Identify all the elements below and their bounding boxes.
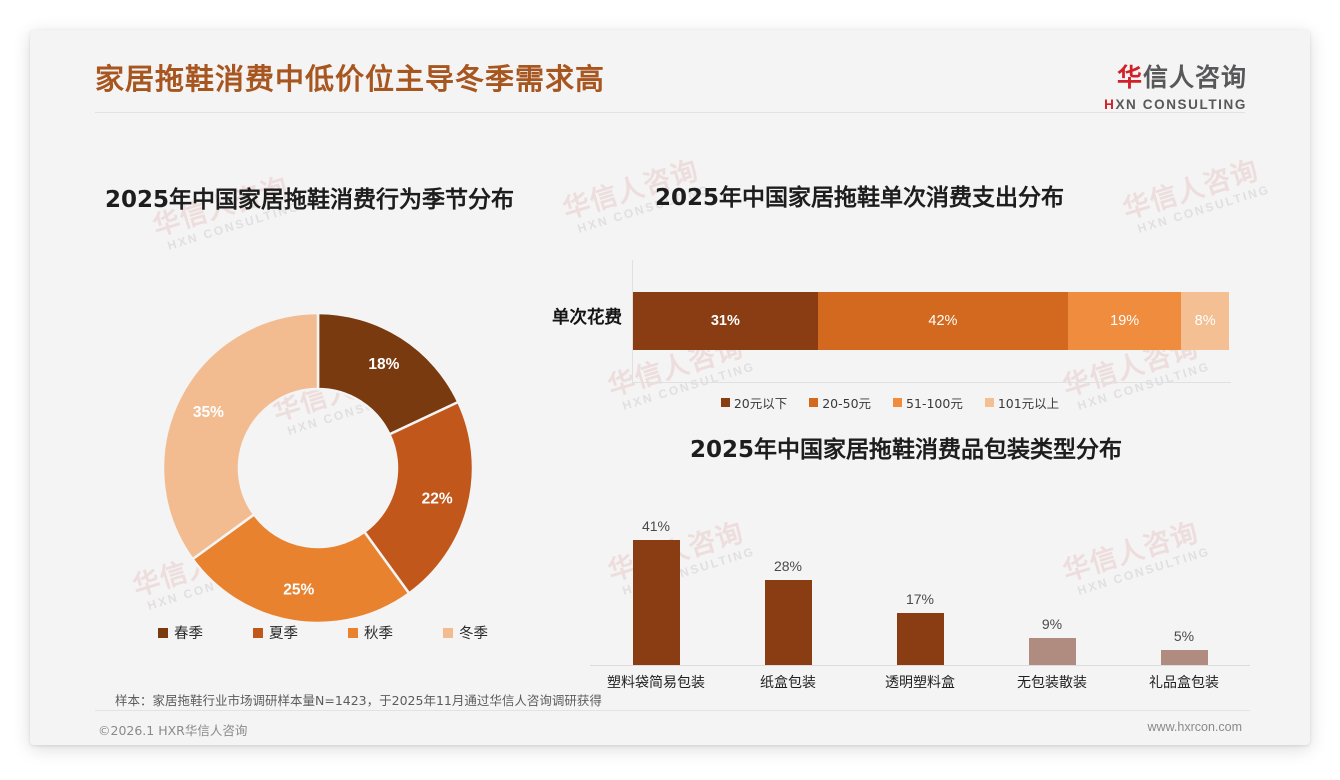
spend-segment-label: 8%	[1195, 313, 1216, 329]
spend-stacked-bar: 31%42%19%8%	[633, 292, 1229, 350]
legend-label: 51-100元	[906, 393, 963, 412]
packaging-category-label: 无包装散装	[986, 672, 1118, 692]
donut-legend: 春季 夏季 秋季 冬季	[158, 622, 488, 643]
packaging-value-label: 28%	[722, 558, 854, 574]
spend-segment-label: 19%	[1110, 313, 1139, 329]
spend-segment[interactable]: 42%	[818, 292, 1068, 350]
packaging-column[interactable]: 41%	[590, 500, 722, 665]
donut-value-label: 25%	[283, 581, 314, 598]
spend-segment-label: 42%	[928, 313, 957, 329]
legend-swatch-icon	[348, 628, 358, 638]
spend-segment[interactable]: 19%	[1068, 292, 1181, 350]
spend-segment-label: 31%	[711, 313, 740, 329]
logo-accent-char: 华	[1117, 63, 1143, 92]
packaging-bar[interactable]	[897, 613, 944, 665]
packaging-category-label: 透明塑料盒	[854, 672, 986, 692]
legend-label: 春季	[174, 622, 203, 643]
packaging-bar-chart: 41%28%17%9%5% 塑料袋简易包装纸盒包装透明塑料盒无包装散装礼品盒包装	[590, 500, 1250, 710]
packaging-category-label: 纸盒包装	[722, 672, 854, 692]
legend-swatch-icon	[985, 398, 994, 407]
packaging-bar[interactable]	[1161, 650, 1208, 665]
legend-label: 夏季	[269, 622, 298, 643]
spend-chart-title: 2025年中国家居拖鞋单次消费支出分布	[655, 178, 1064, 212]
packaging-bar[interactable]	[765, 580, 812, 665]
packaging-category-labels: 塑料袋简易包装纸盒包装透明塑料盒无包装散装礼品盒包装	[590, 672, 1250, 692]
watermark-cn: 华信人咨询	[1120, 155, 1267, 223]
watermark: 华信人咨询 HXN CONSULTING	[1120, 155, 1272, 237]
legend-item-over-101[interactable]: 101元以上	[985, 393, 1059, 412]
packaging-column[interactable]: 9%	[986, 500, 1118, 665]
donut-slices	[163, 313, 473, 623]
legend-item-spring[interactable]: 春季	[158, 622, 203, 643]
slide-card: 华信人咨询 HXN CONSULTING 华信人咨询 HXN CONSULTIN…	[30, 30, 1310, 745]
spend-segment[interactable]: 31%	[633, 292, 818, 350]
company-logo: 华信人咨询 HXN CONSULTING	[1104, 58, 1247, 112]
legend-item-autumn[interactable]: 秋季	[348, 622, 393, 643]
legend-label: 20-50元	[822, 393, 871, 412]
legend-item-winter[interactable]: 冬季	[443, 622, 488, 643]
website-link[interactable]: www.hxrcon.com	[1148, 720, 1242, 734]
legend-label: 101元以上	[998, 393, 1059, 412]
legend-item-51-100[interactable]: 51-100元	[893, 393, 963, 412]
packaging-column[interactable]: 5%	[1118, 500, 1250, 665]
packaging-bar[interactable]	[1029, 638, 1076, 665]
slide-header: 家居拖鞋消费中低价位主导冬季需求高 华信人咨询 HXN CONSULTING	[30, 30, 1310, 108]
sample-note: 样本：家居拖鞋行业市场调研样本量N=1423，于2025年11月通过华信人咨询调…	[115, 690, 602, 709]
legend-item-summer[interactable]: 夏季	[253, 622, 298, 643]
logo-rest-chars: 信人咨询	[1143, 63, 1247, 92]
page-title: 家居拖鞋消费中低价位主导冬季需求高	[95, 56, 605, 98]
copyright-text: ©2026.1 HXR华信人咨询	[98, 720, 247, 739]
legend-swatch-icon	[893, 398, 902, 407]
season-donut-chart: 18%22%25%35%	[158, 308, 478, 628]
legend-swatch-icon	[253, 628, 263, 638]
packaging-value-label: 17%	[854, 591, 986, 607]
spend-segment[interactable]: 8%	[1181, 292, 1229, 350]
legend-label: 秋季	[364, 622, 393, 643]
packaging-column[interactable]: 28%	[722, 500, 854, 665]
donut-value-label: 35%	[193, 404, 224, 421]
packaging-bar[interactable]	[633, 540, 680, 665]
logo-en-rest: XN CONSULTING	[1115, 97, 1247, 112]
packaging-category-label: 塑料袋简易包装	[590, 672, 722, 692]
spend-row-label: 单次花费	[530, 304, 622, 329]
legend-item-under-20[interactable]: 20元以下	[721, 393, 787, 412]
legend-swatch-icon	[443, 628, 453, 638]
legend-swatch-icon	[721, 398, 730, 407]
legend-label: 20元以下	[734, 393, 787, 412]
packaging-value-label: 5%	[1118, 628, 1250, 644]
packaging-value-label: 9%	[986, 616, 1118, 632]
spend-stacked-bar-chart: 单次花费 31%42%19%8%	[530, 260, 1250, 390]
packaging-plot-area: 41%28%17%9%5%	[590, 500, 1250, 666]
legend-item-20-50[interactable]: 20-50元	[809, 393, 871, 412]
logo-english-text: HXN CONSULTING	[1104, 97, 1247, 112]
donut-value-label: 18%	[368, 356, 399, 373]
legend-label: 冬季	[459, 622, 488, 643]
watermark-en: HXN CONSULTING	[1136, 183, 1271, 235]
donut-slice[interactable]	[163, 313, 318, 559]
donut-value-label: 22%	[422, 491, 453, 508]
footer-divider	[95, 710, 1250, 711]
legend-swatch-icon	[809, 398, 818, 407]
donut-chart-title: 2025年中国家居拖鞋消费行为季节分布	[105, 180, 514, 214]
logo-chinese-text: 华信人咨询	[1104, 58, 1247, 94]
spend-legend: 20元以下 20-50元 51-100元 101元以上	[530, 393, 1250, 412]
title-divider	[95, 112, 1245, 113]
packaging-chart-title: 2025年中国家居拖鞋消费品包装类型分布	[690, 430, 1122, 464]
packaging-value-label: 41%	[590, 518, 722, 534]
logo-en-accent: H	[1104, 97, 1115, 112]
packaging-column[interactable]: 17%	[854, 500, 986, 665]
legend-swatch-icon	[158, 628, 168, 638]
packaging-category-label: 礼品盒包装	[1118, 672, 1250, 692]
donut-svg: 18%22%25%35%	[158, 308, 478, 628]
